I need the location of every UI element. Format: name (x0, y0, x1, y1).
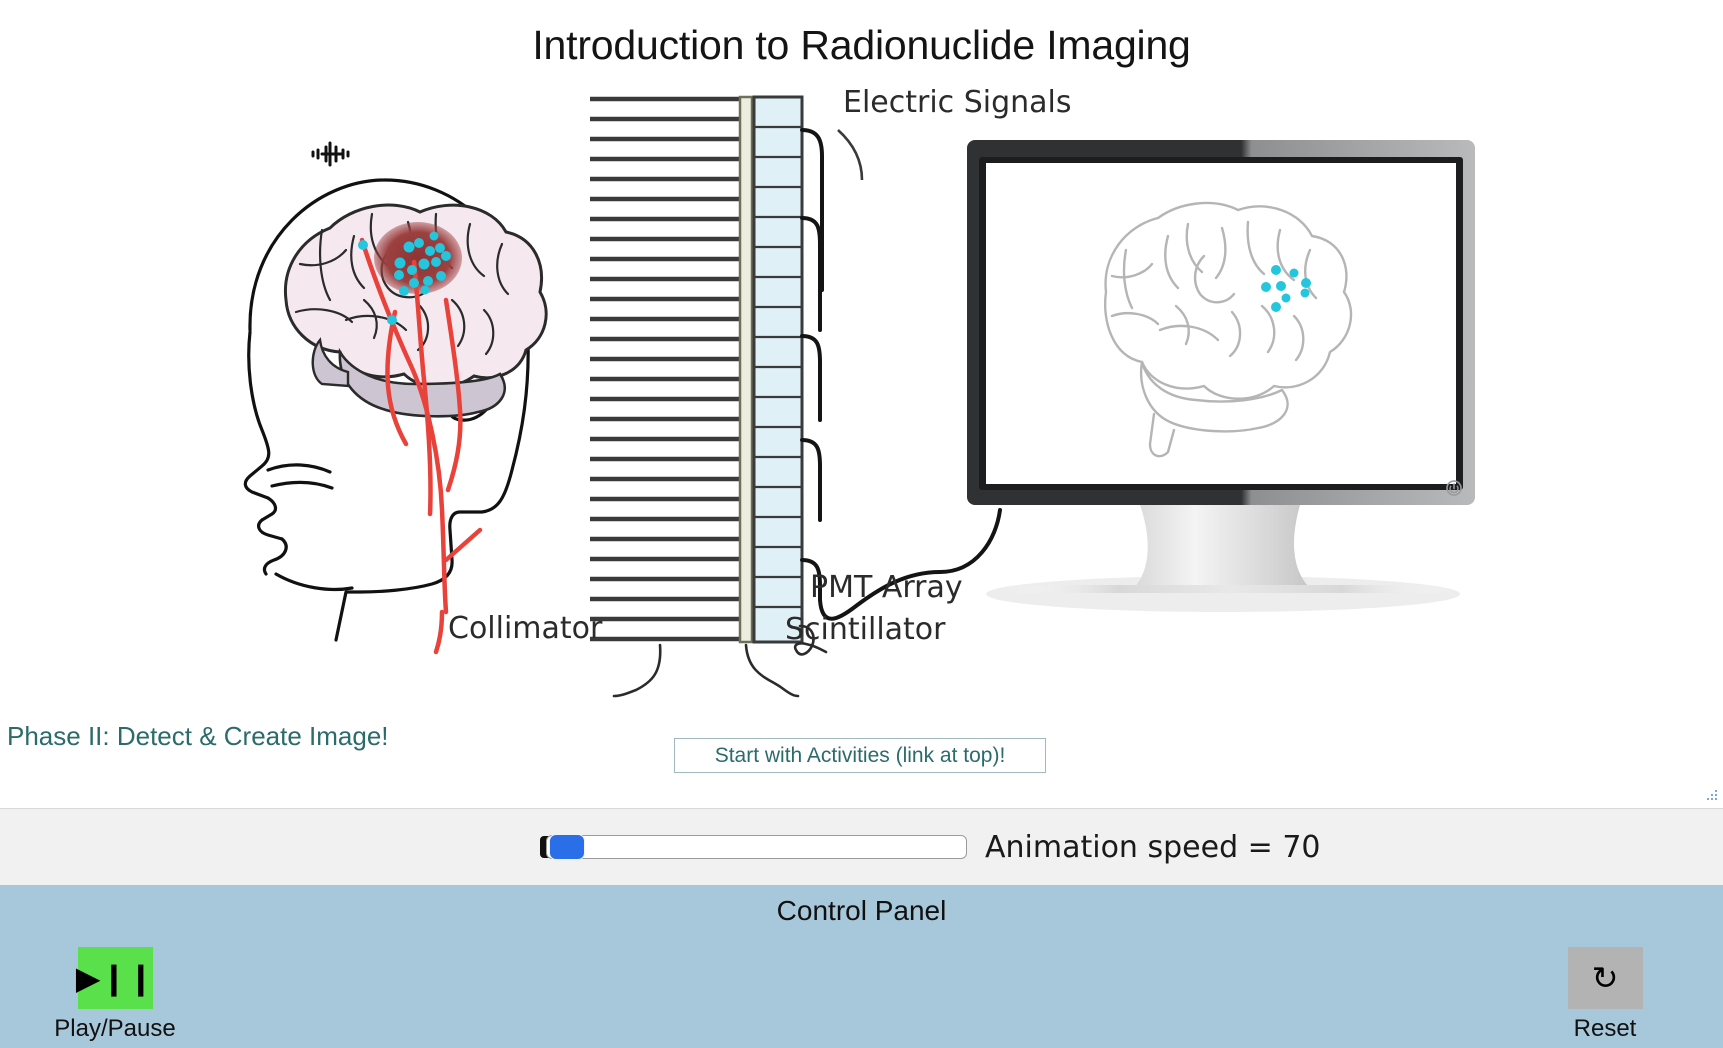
monitor-stand (1134, 505, 1310, 588)
play-pause-button[interactable]: ▶❙❙ (78, 947, 153, 1009)
label-electric-signals: Electric Signals (843, 85, 1072, 120)
collimator-plates (590, 99, 740, 639)
animation-stage: Introduction to Radionuclide Imaging Ele… (0, 0, 1723, 808)
slider-track[interactable] (546, 835, 967, 859)
reset-label: Reset (1535, 1015, 1675, 1043)
control-panel-title: Control Panel (0, 895, 1723, 927)
monitor-screen (986, 163, 1456, 484)
pmt-array (754, 97, 802, 642)
label-pmt-array: PMT Array (810, 570, 963, 605)
electric-signals-leader (838, 130, 862, 180)
animation-speed-bar: Animation speed = 70 (0, 808, 1723, 885)
computer-monitor (967, 140, 1475, 612)
start-activities-hint[interactable]: Start with Activities (link at top)! (674, 738, 1046, 773)
label-scintillator: Scintillator (785, 612, 946, 647)
page-title: Introduction to Radionuclide Imaging (0, 22, 1723, 69)
phase-status-text: Phase II: Detect & Create Image! (7, 721, 389, 752)
diagram-illustration (0, 0, 1723, 808)
label-collimator: Collimator (448, 611, 602, 646)
play-pause-label: Play/Pause (45, 1015, 185, 1043)
reset-button[interactable]: ↻ (1568, 947, 1643, 1009)
reset-group: ↻ Reset (1535, 947, 1675, 1043)
play-pause-icon: ▶❙❙ (76, 962, 154, 994)
slider-thumb-icon[interactable] (549, 834, 585, 860)
resize-grip-icon[interactable] (1703, 788, 1719, 804)
animation-speed-slider[interactable] (540, 832, 967, 862)
monitor-base (1005, 585, 1455, 593)
animation-speed-readout: Animation speed = 70 (985, 830, 1321, 865)
brain-illustration (285, 205, 546, 416)
play-pause-group: ▶❙❙ Play/Pause (45, 947, 185, 1043)
gamma-burst-icon (313, 143, 348, 165)
scintillator-layer (740, 97, 752, 642)
radionuclide-imaging-app: Introduction to Radionuclide Imaging Ele… (0, 0, 1723, 1048)
start-activities-hint-label: Start with Activities (link at top)! (715, 744, 1006, 768)
reset-icon: ↻ (1592, 962, 1619, 994)
control-panel: Control Panel ▶❙❙ Play/Pause ↻ Reset (0, 885, 1723, 1048)
